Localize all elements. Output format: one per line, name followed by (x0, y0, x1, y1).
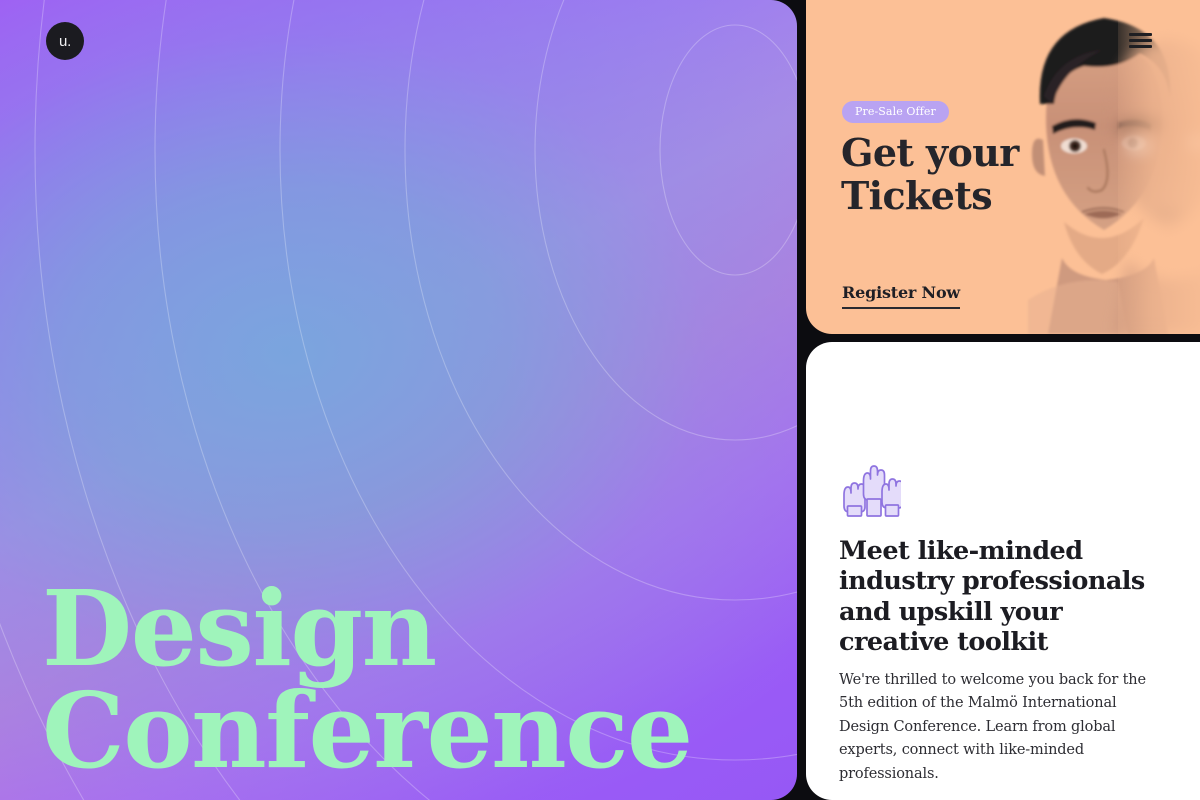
info-body-text: We're thrilled to welcome you back for t… (839, 669, 1157, 786)
hamburger-bar-3 (1129, 45, 1152, 48)
tickets-heading-line-1: Get your (841, 130, 1019, 175)
page-title: Design Conference (42, 578, 742, 782)
status-badge: Pre-Sale Offer (842, 101, 949, 123)
logo-mark-text: u. (59, 33, 71, 50)
page-root: u. Design Conference (0, 0, 1200, 800)
raised-hands-icon (839, 465, 901, 517)
hero-title-line-2: Conference (42, 680, 742, 782)
info-card: Meet like-minded industry professionals … (806, 342, 1200, 800)
circle-logo-icon[interactable]: u. (46, 22, 84, 60)
tickets-heading: Get your Tickets (841, 131, 1091, 218)
hamburger-menu-icon[interactable] (1129, 33, 1152, 48)
hamburger-bar-1 (1129, 33, 1152, 36)
hamburger-bar-2 (1129, 39, 1152, 42)
hero-panel: u. Design Conference (0, 0, 797, 800)
info-heading: Meet like-minded industry professionals … (839, 536, 1169, 657)
tickets-panel: Pre-Sale Offer Get your Tickets Register… (806, 0, 1200, 334)
register-now-link[interactable]: Register Now (842, 283, 960, 309)
tickets-heading-line-2: Tickets (841, 174, 1091, 217)
